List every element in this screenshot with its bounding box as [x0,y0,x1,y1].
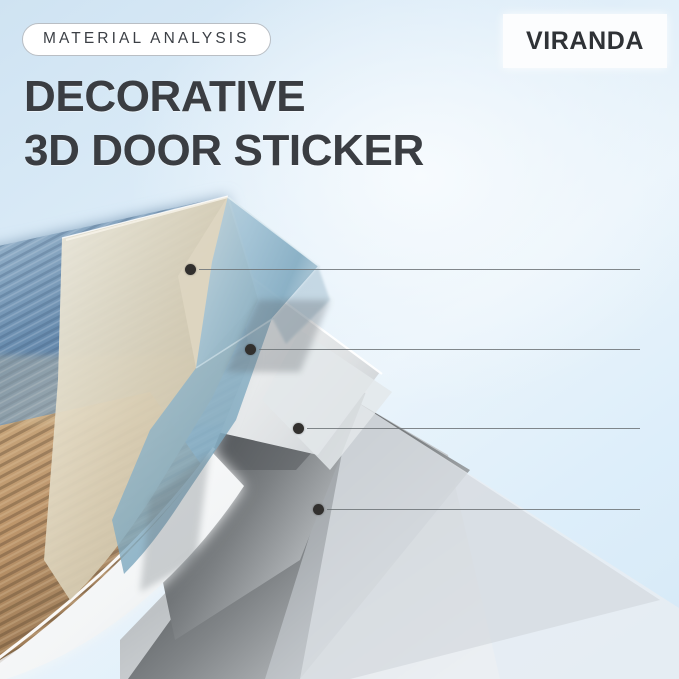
callout-dot-backing-layer [313,504,324,515]
callout-leader-line-bonding-layer [307,428,640,429]
page-title: DECORATIVE 3D DOOR STICKER [24,70,424,178]
callout-leader-line-hd-pattern-layer [259,349,640,350]
page-title-line-1: DECORATIVE [24,70,424,124]
brand-logo: VIRANDA [503,14,667,68]
callout-dot-waterproof-layer [185,264,196,275]
poster-canvas: MATERIAL ANALYSIS DECORATIVE 3D DOOR STI… [0,0,679,679]
eyebrow-badge: MATERIAL ANALYSIS [22,23,271,56]
callout-leader-line-waterproof-layer [199,269,640,270]
callout-dot-bonding-layer [293,423,304,434]
page-title-line-2: 3D DOOR STICKER [24,124,424,178]
callout-dot-hd-pattern-layer [245,344,256,355]
brand-name: VIRANDA [526,27,644,56]
callout-leader-line-backing-layer [327,509,640,510]
